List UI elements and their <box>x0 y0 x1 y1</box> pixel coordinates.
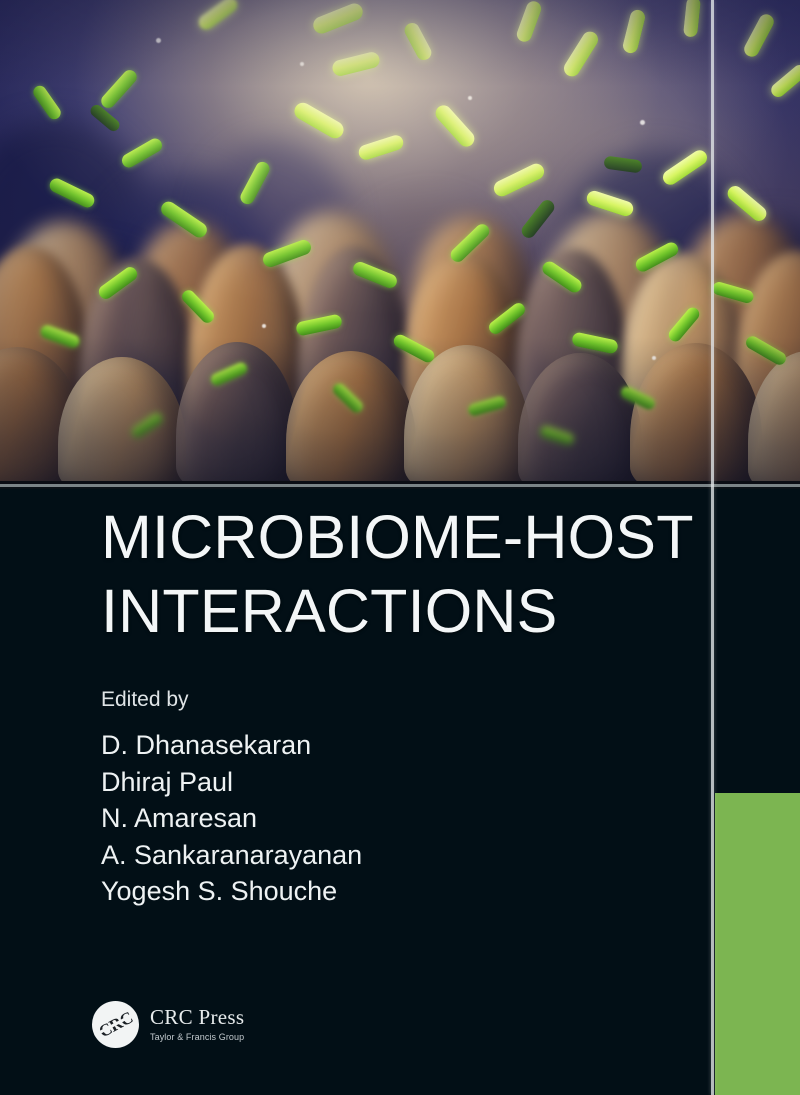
green-accent-block <box>715 793 800 1095</box>
book-cover: MICROBIOME-HOST INTERACTIONS Edited by D… <box>0 0 800 1095</box>
artwork-speck <box>652 356 656 360</box>
editor-name: Yogesh S. Shouche <box>101 873 362 910</box>
page-title: MICROBIOME-HOST INTERACTIONS <box>101 500 701 648</box>
edited-by-label: Edited by <box>101 687 189 713</box>
publisher-logo: CRC CRC Press Taylor & Francis Group <box>92 1001 244 1048</box>
title-line-2: INTERACTIONS <box>101 574 701 648</box>
title-line-1: MICROBIOME-HOST <box>101 500 701 574</box>
vertical-rule <box>711 0 714 1095</box>
editor-list: D. Dhanasekaran Dhiraj Paul N. Amaresan … <box>101 727 362 910</box>
cover-artwork <box>0 0 800 481</box>
artwork-speck <box>300 62 304 66</box>
artwork-speck <box>262 324 266 328</box>
artwork-speck <box>156 38 161 43</box>
artwork-speck <box>468 96 472 100</box>
crc-press-logo-icon: CRC <box>92 1001 139 1048</box>
publisher-text: CRC Press Taylor & Francis Group <box>150 1006 244 1043</box>
artwork-speck <box>640 120 645 125</box>
editor-name: D. Dhanasekaran <box>101 727 362 764</box>
publisher-subtitle: Taylor & Francis Group <box>150 1031 244 1043</box>
editor-name: A. Sankaranarayanan <box>101 837 362 874</box>
editor-name: Dhiraj Paul <box>101 764 362 801</box>
publisher-name: CRC Press <box>150 1006 244 1029</box>
editor-name: N. Amaresan <box>101 800 362 837</box>
